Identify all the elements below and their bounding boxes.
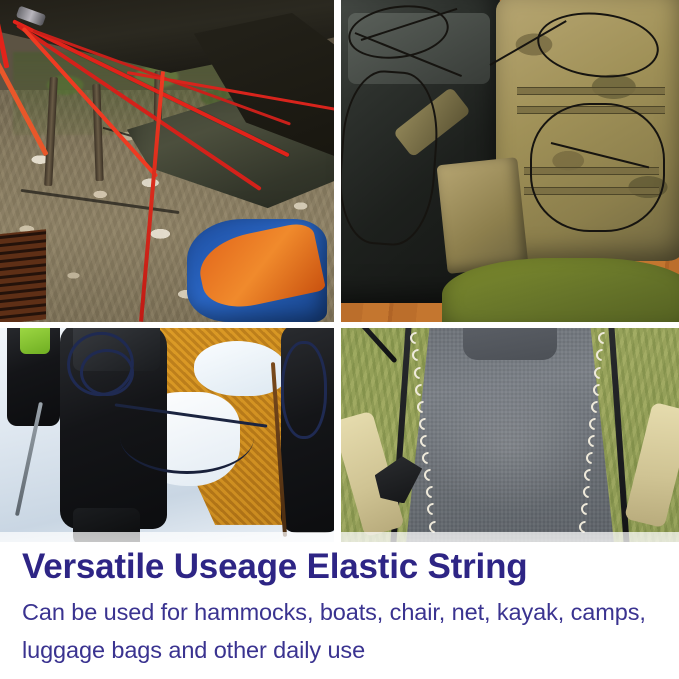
banner-headline: Versatile Useage Elastic String	[22, 546, 661, 587]
marketing-text-overlay: Versatile Useage Elastic String Can be u…	[0, 532, 679, 679]
grid-gutter-vertical	[334, 328, 341, 542]
molle-webbing-strip	[517, 87, 666, 95]
photo-forest-hammock-tarp	[0, 0, 334, 322]
coiled-climbing-rope	[80, 349, 133, 396]
grid-gutter-vertical	[334, 0, 341, 322]
rope-span-between-climbers	[120, 401, 254, 474]
photo-tactical-backpacks	[341, 0, 679, 322]
banner-description-line-1: Can be used for hammocks, boats, chair, …	[22, 593, 661, 631]
photo-roped-mountaineers-snow	[0, 328, 334, 542]
photo-zero-gravity-chair	[341, 328, 679, 542]
coiled-climbing-rope	[281, 341, 328, 439]
chair-headrest	[463, 328, 558, 360]
banner-description-line-2: luggage bags and other daily use	[22, 631, 661, 669]
olive-duffel-bag	[442, 258, 679, 322]
product-banner: Versatile Useage Elastic String Can be u…	[0, 0, 679, 679]
wooden-crate	[0, 229, 47, 322]
camo-utility-pouch	[437, 157, 529, 274]
green-jacket-sleeve	[20, 328, 50, 354]
